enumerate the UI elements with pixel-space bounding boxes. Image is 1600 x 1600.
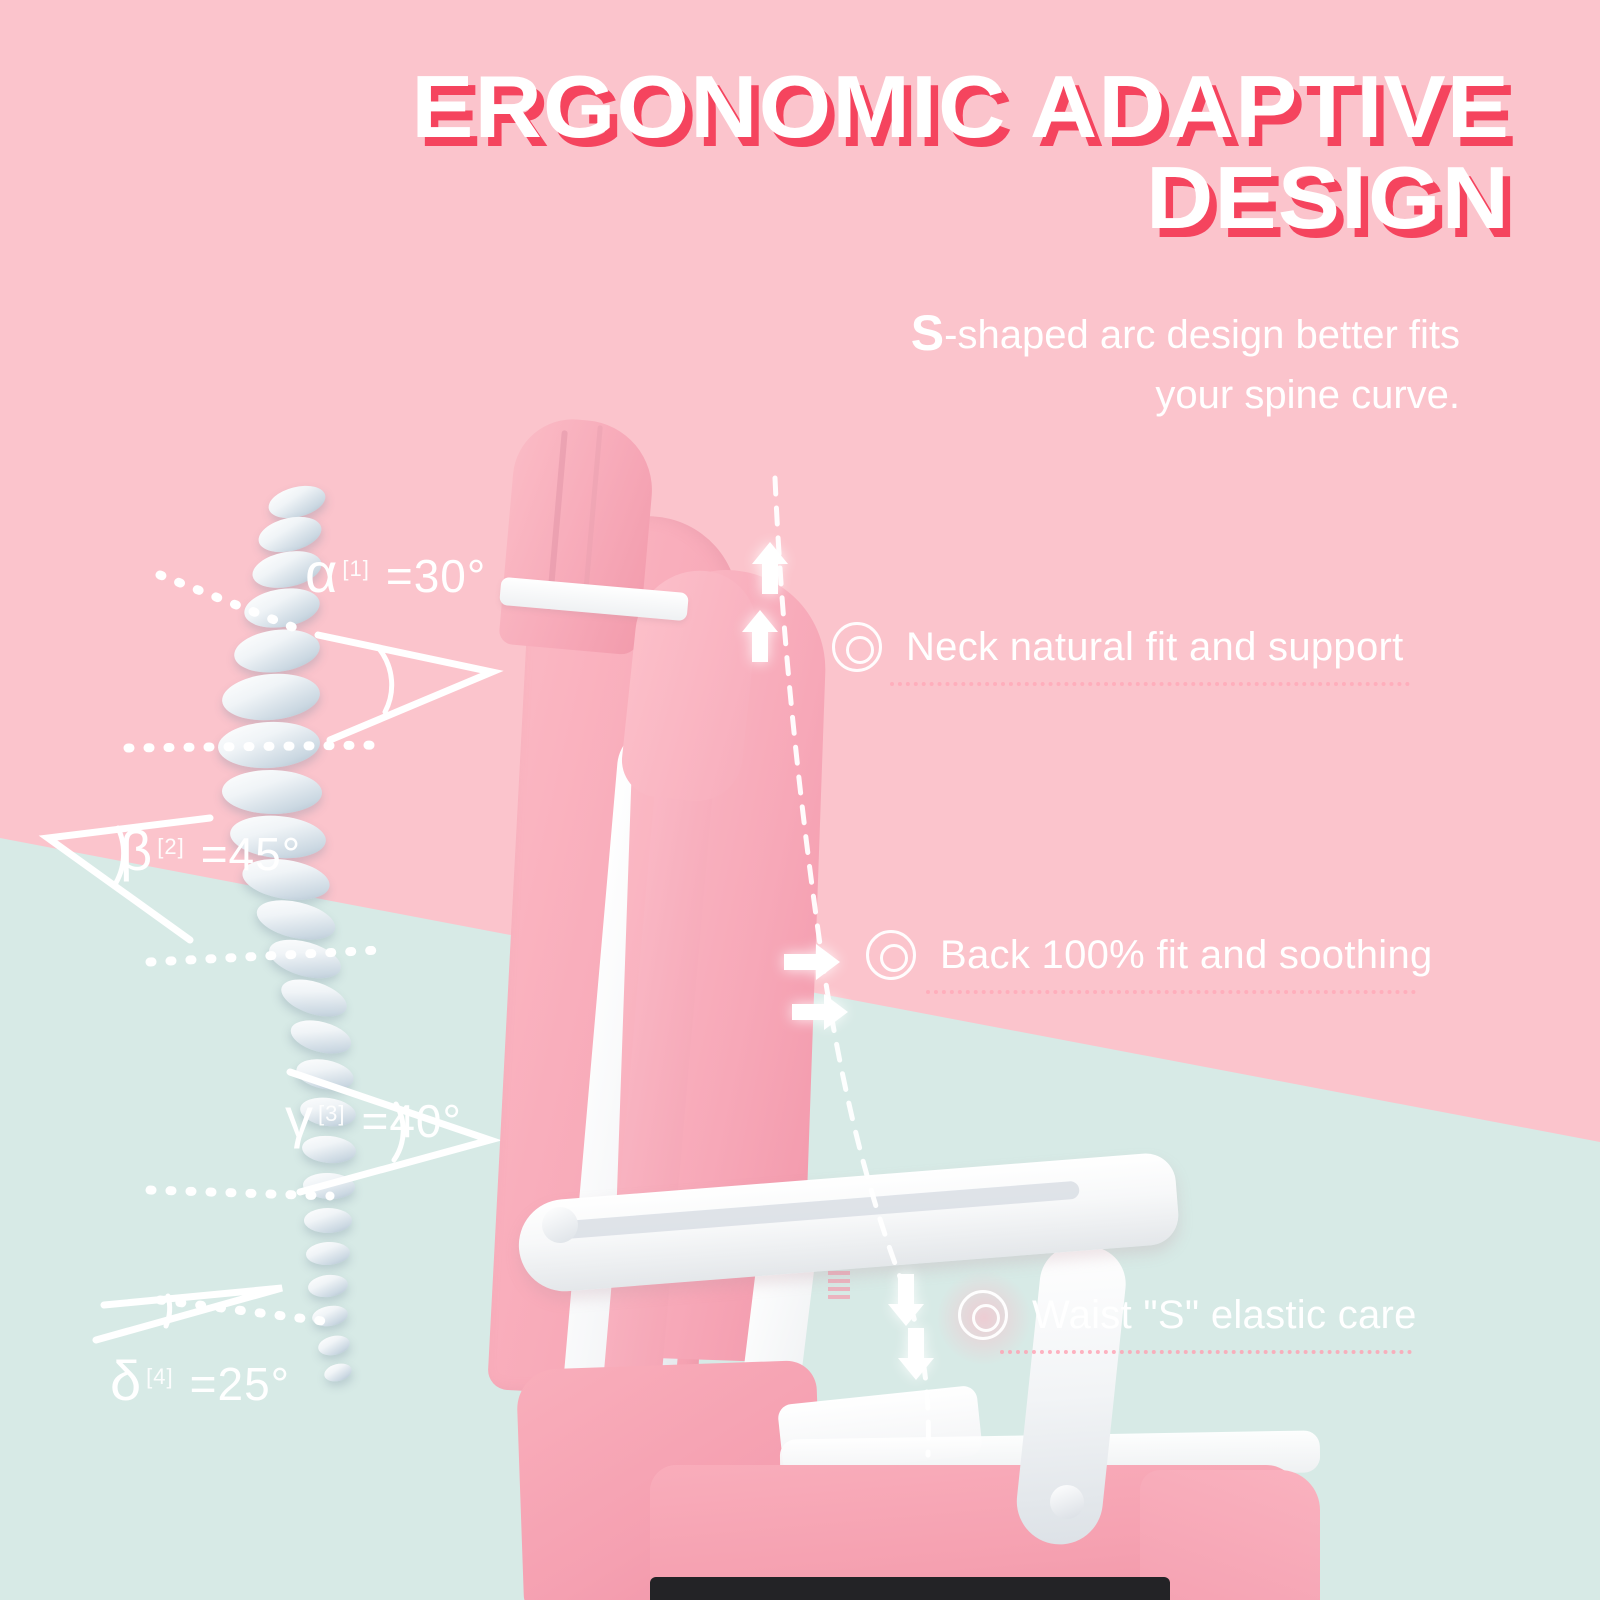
target-ring-icon — [832, 622, 882, 672]
angle-glyph-delta: δ — [110, 1349, 142, 1412]
angle-glyph-beta: β — [120, 819, 153, 882]
angle-glyph-alpha: α — [305, 541, 338, 604]
page-title: ERGONOMIC ADAPTIVE DESIGN — [300, 62, 1510, 243]
angle-superscript-gamma: [3] — [318, 1101, 345, 1126]
angle-label-delta: δ[4]=25° — [110, 1348, 290, 1413]
angle-label-gamma: γ[3]=40° — [285, 1085, 462, 1150]
angle-label-alpha: α[1]=30° — [305, 540, 486, 605]
angle-superscript-beta: [2] — [157, 834, 184, 859]
subtitle-line-1: -shaped arc design better fits — [944, 313, 1460, 357]
feature-callout-waist[interactable]: Waist "S" elastic care — [958, 1290, 1417, 1340]
chair-headrest — [498, 414, 658, 655]
feature-underline-neck — [890, 682, 1410, 686]
feature-underline-back — [926, 990, 1416, 994]
subtitle-line-2: your spine curve. — [1155, 373, 1460, 417]
infographic-canvas: α[1]=30° β[2]=45° γ[3]=40° δ[4]=25° — [0, 0, 1600, 1600]
angle-label-beta: β[2]=45° — [120, 818, 301, 883]
title-line-2: DESIGN — [227, 153, 1510, 244]
chair-base-block — [650, 1577, 1170, 1600]
angle-value-alpha: =30° — [386, 550, 486, 602]
angle-value-delta: =25° — [190, 1358, 290, 1410]
angle-glyph-gamma: γ — [285, 1086, 314, 1149]
chair-armrest-post-knob — [1050, 1485, 1084, 1519]
feature-label-waist: Waist "S" elastic care — [1032, 1293, 1417, 1338]
gaming-chair-illustration — [480, 395, 1340, 1600]
angle-superscript-delta: [4] — [146, 1364, 173, 1389]
subtitle-lead-letter: S — [911, 305, 944, 361]
feature-label-neck: Neck natural fit and support — [906, 625, 1404, 670]
waist-arrow-down — [884, 1272, 928, 1328]
title-line-1: ERGONOMIC ADAPTIVE — [227, 62, 1510, 153]
neck-arrow-up — [738, 608, 782, 664]
angle-value-beta: =45° — [201, 828, 301, 880]
feature-underline-waist — [1000, 1350, 1412, 1354]
target-ring-icon — [866, 930, 916, 980]
feature-callout-neck[interactable]: Neck natural fit and support — [832, 622, 1404, 672]
target-ring-icon — [958, 1290, 1008, 1340]
back-arrow-right — [790, 990, 850, 1034]
back-arrow-right — [782, 940, 842, 984]
angle-superscript-alpha: [1] — [342, 556, 369, 581]
angle-value-gamma: =40° — [361, 1095, 461, 1147]
feature-label-back: Back 100% fit and soothing — [940, 933, 1433, 978]
feature-callout-back[interactable]: Back 100% fit and soothing — [866, 930, 1433, 980]
neck-arrow-up — [748, 540, 792, 596]
subtitle: S-shaped arc design better fits your spi… — [760, 300, 1460, 422]
waist-arrow-down — [894, 1326, 938, 1382]
